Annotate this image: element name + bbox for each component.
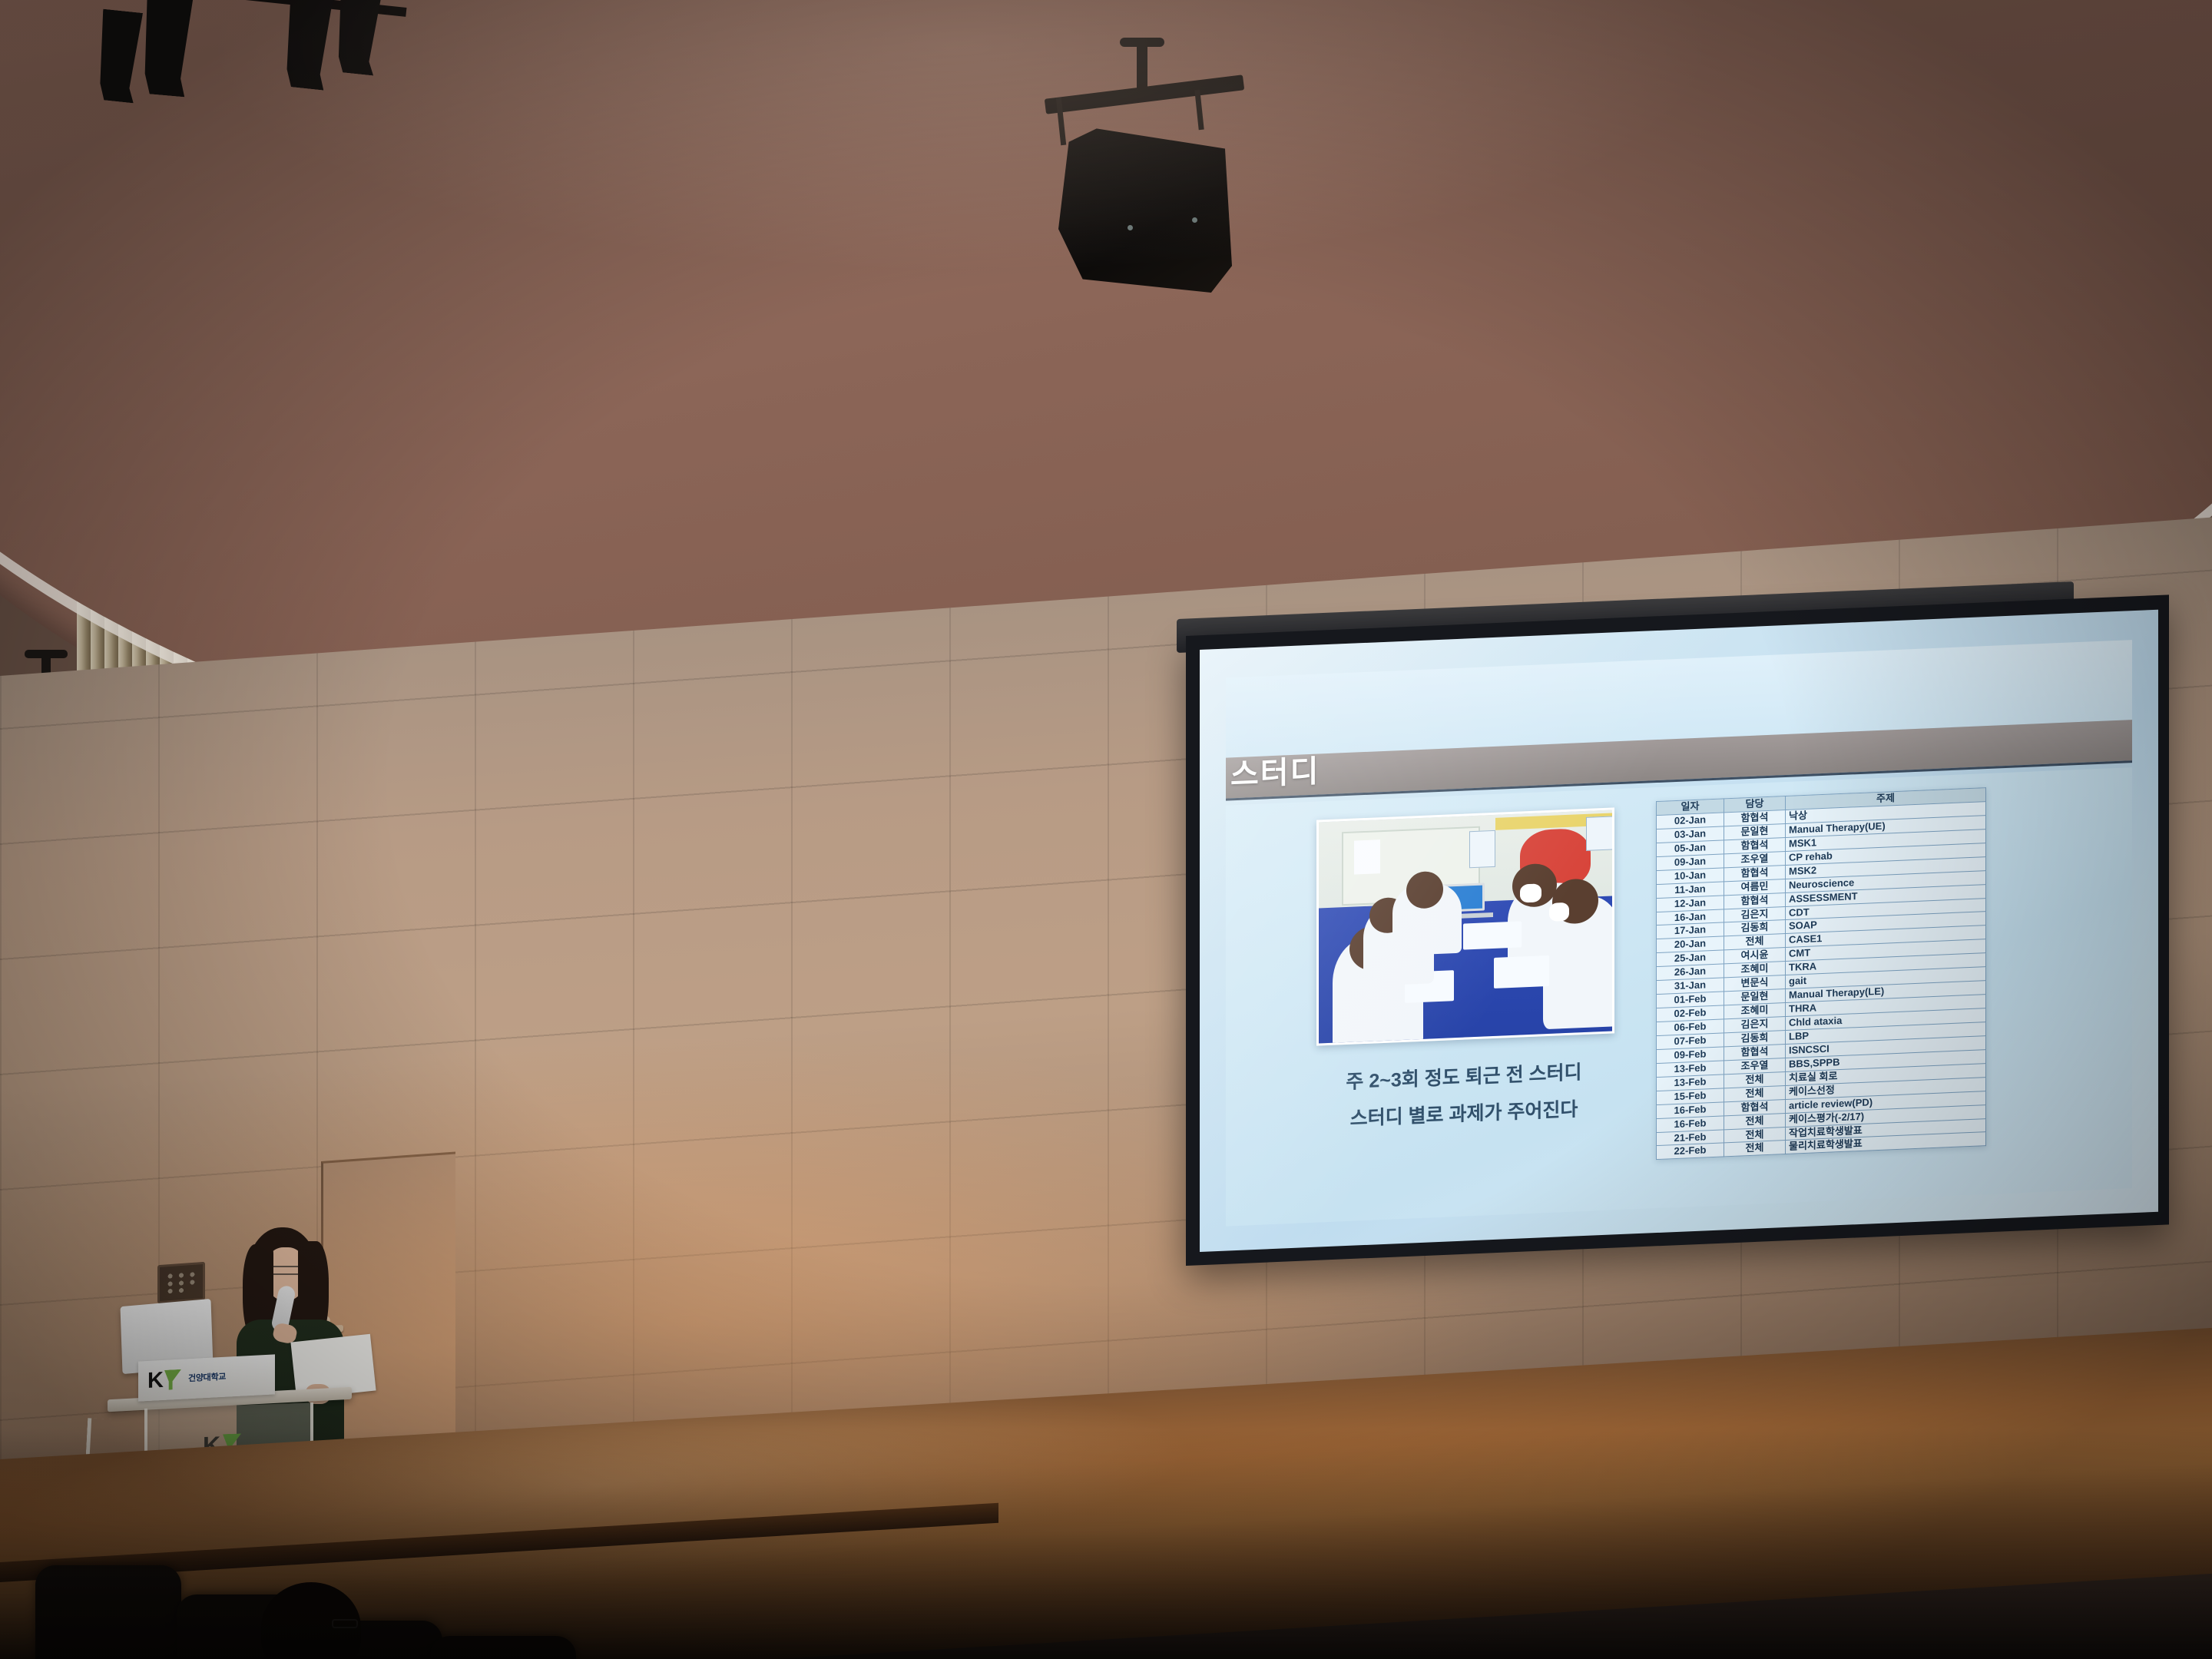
speaker-cabinet [1058, 125, 1232, 293]
auditorium-scene: 스터디 [0, 0, 2212, 1659]
photo-poster [1586, 816, 1614, 851]
logo-leaf-y-icon [164, 1369, 181, 1390]
table-cell-date: 22-Feb [1657, 1143, 1724, 1160]
photo-face-mask [1549, 902, 1569, 922]
ceiling-speaker [1022, 42, 1267, 311]
photo-document [1494, 955, 1549, 988]
slide-caption: 주 2~3회 정도 퇴근 전 스터디 스터디 별로 과제가 주어진다 [1272, 1051, 1656, 1141]
slide-photo [1316, 807, 1614, 1045]
speaker-chain-right [1194, 90, 1204, 130]
speaker-screw [1128, 225, 1133, 230]
presentation-slide: 스터디 [1214, 625, 2144, 1239]
podium-institution-name: 건양대학교 [188, 1372, 226, 1383]
photo-document [1463, 921, 1522, 949]
table-body: 02-Jan함협석낙상03-Jan문일현Manual Therapy(UE)05… [1657, 802, 1986, 1160]
audience-foreground [0, 1521, 630, 1659]
audience-seat [430, 1636, 576, 1659]
photo-face-mask [1520, 883, 1541, 902]
podium-nameplate: K 건양대학교 [138, 1354, 275, 1401]
study-schedule-table: 일자 담당 주제 02-Jan함협석낙상03-Jan문일현Manual Ther… [1656, 787, 1986, 1160]
audience-seat [35, 1565, 181, 1659]
audience-glasses-icon [332, 1619, 358, 1628]
projection-screen-surface: 스터디 [1200, 610, 2158, 1252]
speaker-screw [1192, 217, 1197, 223]
logo-letter-k: K [147, 1369, 163, 1392]
slide-header-area [1226, 640, 2132, 794]
slide-body: 주 2~3회 정도 퇴근 전 스터디 스터디 별로 과제가 주어진다 일자 담당… [1226, 767, 2132, 1226]
photo-paper-note [1354, 839, 1380, 874]
slide-title: 스터디 [1230, 746, 1320, 794]
photo-poster [1469, 830, 1495, 868]
konyang-logo-icon: K [147, 1368, 183, 1392]
table-cell-owner: 전체 [1724, 1141, 1786, 1157]
